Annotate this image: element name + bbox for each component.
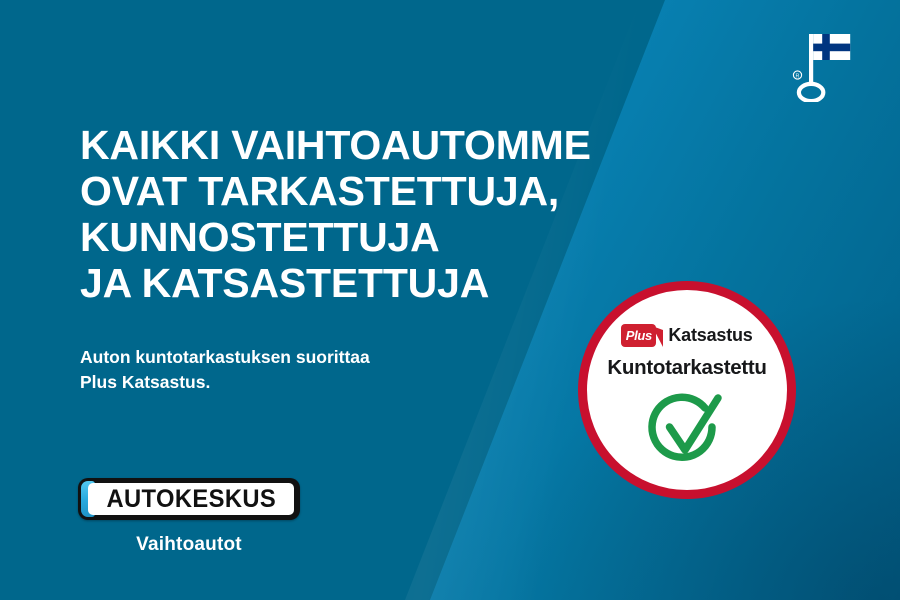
headline-line-1: KAIKKI VAIHTOAUTOMME — [80, 122, 670, 168]
plus-logo-swoosh-icon — [652, 326, 663, 347]
subtitle-line-2: Plus Katsastus. — [80, 370, 500, 395]
green-check-circle-icon — [644, 389, 730, 469]
logo-plate: AUTOKESKUS — [78, 478, 300, 520]
badge-status-text: Kuntotarkastettu — [607, 358, 766, 379]
headline: KAIKKI VAIHTOAUTOMME OVAT TARKASTETTUJA,… — [80, 122, 670, 306]
svg-text:R: R — [796, 74, 800, 80]
autokeskus-logo[interactable]: AUTOKESKUS Vaihtoautot — [78, 478, 308, 556]
subtitle-line-1: Auton kuntotarkastuksen suorittaa — [80, 345, 500, 370]
subtitle: Auton kuntotarkastuksen suorittaa Plus K… — [80, 345, 500, 395]
avainlippu-key-flag-icon: R — [788, 28, 856, 102]
logo-wordmark: AUTOKESKUS — [106, 487, 276, 512]
badge-brand-lockup: Plus Katsastus — [621, 323, 752, 347]
badge-brand-word: Katsastus — [668, 326, 752, 344]
headline-line-2: OVAT TARKASTETTUJA, — [80, 168, 670, 214]
kuntotarkastettu-badge: Plus Katsastus Kuntotarkastettu — [578, 281, 796, 499]
headline-line-4: JA KATSASTETTUJA — [80, 260, 670, 306]
plus-logo-text: Plus — [626, 329, 652, 342]
promo-banner: R KAIKKI VAIHTOAUTOMME OVAT TARKASTETTUJ… — [0, 0, 900, 600]
headline-line-3: KUNNOSTETTUJA — [80, 214, 670, 260]
logo-plate-inner: AUTOKESKUS — [88, 483, 294, 515]
plus-logo-mark: Plus — [621, 324, 663, 347]
plus-logo-box: Plus — [621, 324, 656, 347]
logo-sublabel: Vaihtoautot — [78, 534, 300, 556]
